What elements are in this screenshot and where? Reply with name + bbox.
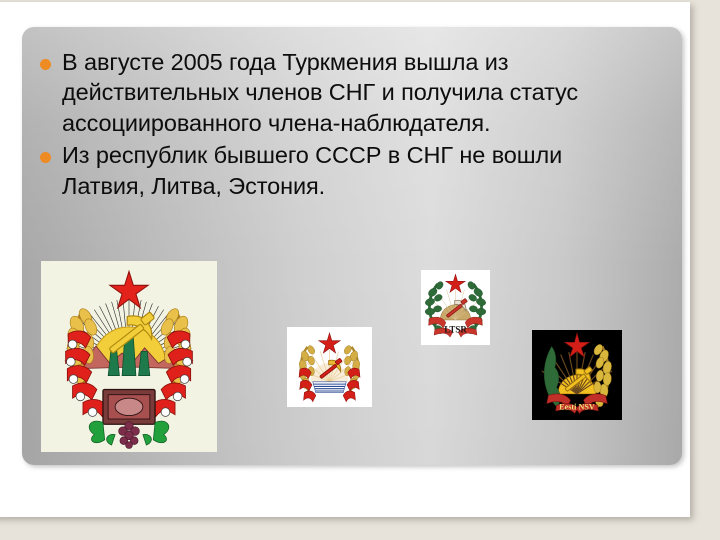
- bullet-item-2: Из республик бывшего СССР в СНГ не вошли…: [40, 140, 640, 201]
- bullet-text-1: В августе 2005 года Туркмения вышла из д…: [62, 47, 640, 138]
- bullet-dot-icon: [40, 152, 51, 163]
- coat-of-arms-lithuanian-ssr-icon: LTSR: [421, 270, 490, 345]
- coat-of-arms-turkmen-ssr-icon: [41, 261, 217, 452]
- slide-stage: В августе 2005 года Туркмения вышла из д…: [0, 0, 720, 540]
- coat-of-arms-latvian-ssr-icon: [287, 327, 372, 407]
- emblem-estonia-caption: Eesti NSV: [559, 402, 595, 411]
- bullet-dot-icon: [40, 59, 51, 70]
- bullet-item-1: В августе 2005 года Туркмения вышла из д…: [40, 47, 640, 138]
- body-text-block: В августе 2005 года Туркмения вышла из д…: [40, 47, 640, 203]
- image-coat-of-arms-turkmen-ssr[interactable]: ПРОЛЕТАРИИ ВСЕХ СТРАН, СОЕДИНЯЙТЕСЬ!: [41, 261, 217, 452]
- image-coat-of-arms-lithuanian-ssr[interactable]: LTSR LTSR: [421, 270, 490, 345]
- content-panel: В августе 2005 года Туркмения вышла из д…: [22, 27, 682, 465]
- image-coat-of-arms-estonian-ssr[interactable]: Eesti NSV Eesti NSV: [532, 330, 622, 420]
- bullet-text-2: Из республик бывшего СССР в СНГ не вошли…: [62, 140, 640, 201]
- slide-frame: В августе 2005 года Туркмения вышла из д…: [0, 2, 690, 517]
- image-coat-of-arms-latvian-ssr[interactable]: [287, 327, 372, 407]
- coat-of-arms-estonian-ssr-icon: Eesti NSV: [532, 330, 622, 420]
- emblem-lithuania-caption: LTSR: [444, 324, 467, 334]
